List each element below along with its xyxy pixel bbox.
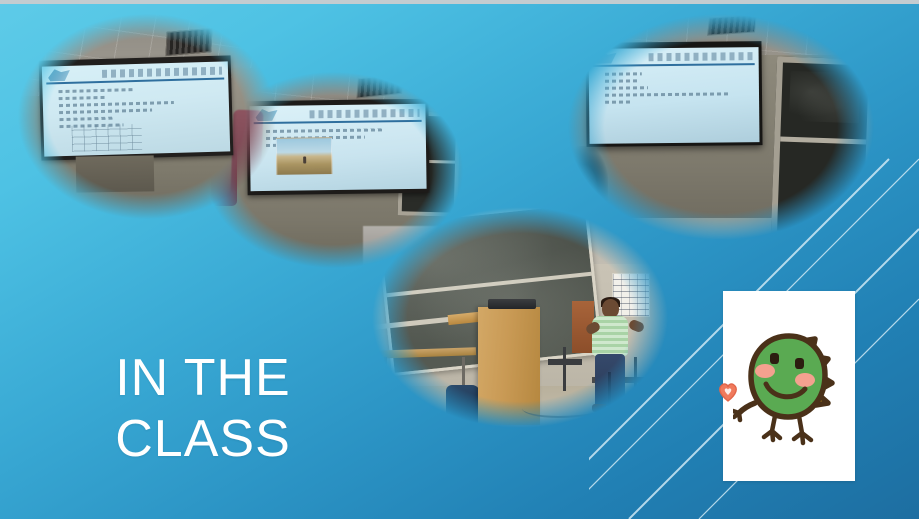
slide-inset-photo [276,137,333,176]
presenter-jeans [595,354,625,406]
heart-icon [715,379,741,405]
ceiling-light [18,14,84,32]
slide-title-rule [46,78,224,85]
projector-screen-frame [585,41,762,147]
slide-logo-icon [48,69,70,82]
presenter-shoes [592,404,628,412]
air-vent [707,14,757,36]
projected-slide [42,61,230,156]
presenter [584,299,640,417]
podium [76,155,155,192]
photo-classroom-projector-outline [18,14,276,219]
dinosaur-icon [733,327,845,449]
frame-top-strip [0,0,919,4]
slide-logo-icon [595,52,617,64]
slide-title-text [309,109,419,119]
page-title-line-1: IN THE [88,348,318,409]
slide-title-text [102,67,222,78]
blackboard-window [771,56,874,239]
presentation-slide: IN THE CLASS [0,0,919,519]
projector-screen-frame [39,55,234,160]
stool [548,347,582,391]
backpack [446,385,480,425]
page-title: IN THE CLASS [88,348,318,471]
chalk-marks [789,71,861,123]
photo-presenter-at-podium [372,207,668,428]
mascot-card [723,291,855,481]
slide-title-rule [593,63,755,67]
ceiling-light [619,227,653,236]
slide-bullet-list [605,71,749,108]
slide-table [71,124,142,152]
page-title-line-2: CLASS [88,409,318,470]
projected-slide [589,47,760,144]
air-vent [165,28,212,56]
slide-title-rule [254,120,422,124]
laptop [488,299,536,309]
red-chair [231,110,264,197]
slide-title-text [649,52,753,61]
